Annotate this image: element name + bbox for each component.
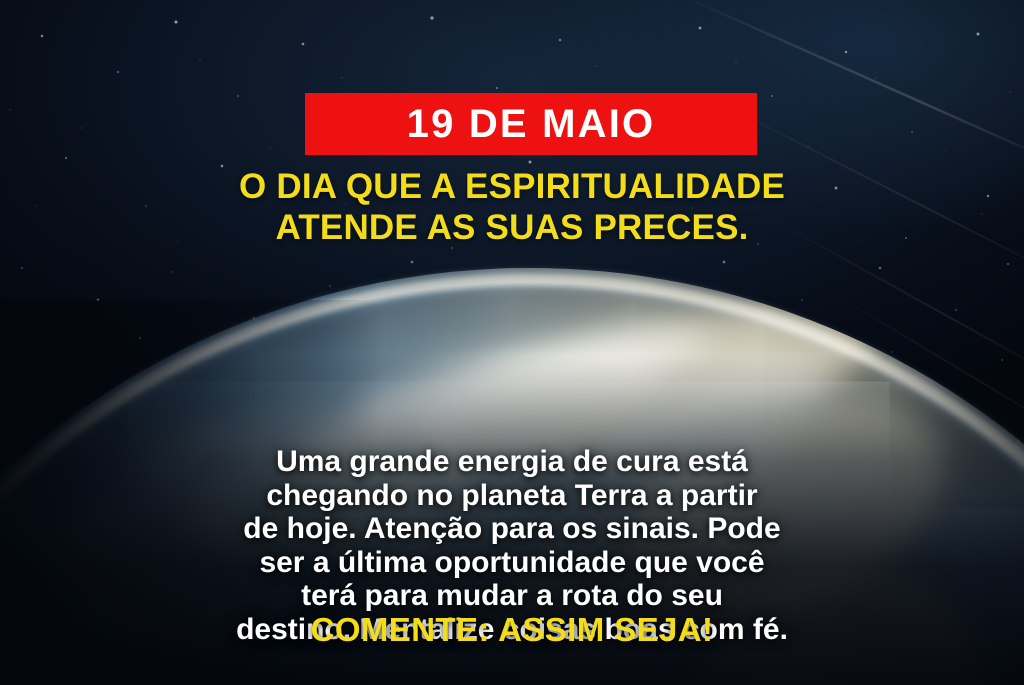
body-line-3: de hoje. Atenção para os sinais. Pode [0,512,1024,546]
body-line-2: chegando no planeta Terra a partir [0,479,1024,513]
body-line-1: Uma grande energia de cura está [0,445,1024,479]
headline: O DIA QUE A ESPIRITUALIDADE ATENDE AS SU… [0,167,1024,248]
headline-line-1: O DIA QUE A ESPIRITUALIDADE [0,167,1024,208]
date-banner: 19 DE MAIO [305,93,757,155]
call-to-action-text: COMENTE: ASSIM SEJA! [0,613,1024,646]
poster-canvas: 19 DE MAIO O DIA QUE A ESPIRITUALIDADE A… [0,0,1024,685]
headline-line-2: ATENDE AS SUAS PRECES. [0,208,1024,249]
body-line-5: terá para mudar a rota do seu [0,579,1024,613]
date-banner-text: 19 DE MAIO [407,104,656,144]
body-line-4: ser a última oportunidade que você [0,546,1024,580]
